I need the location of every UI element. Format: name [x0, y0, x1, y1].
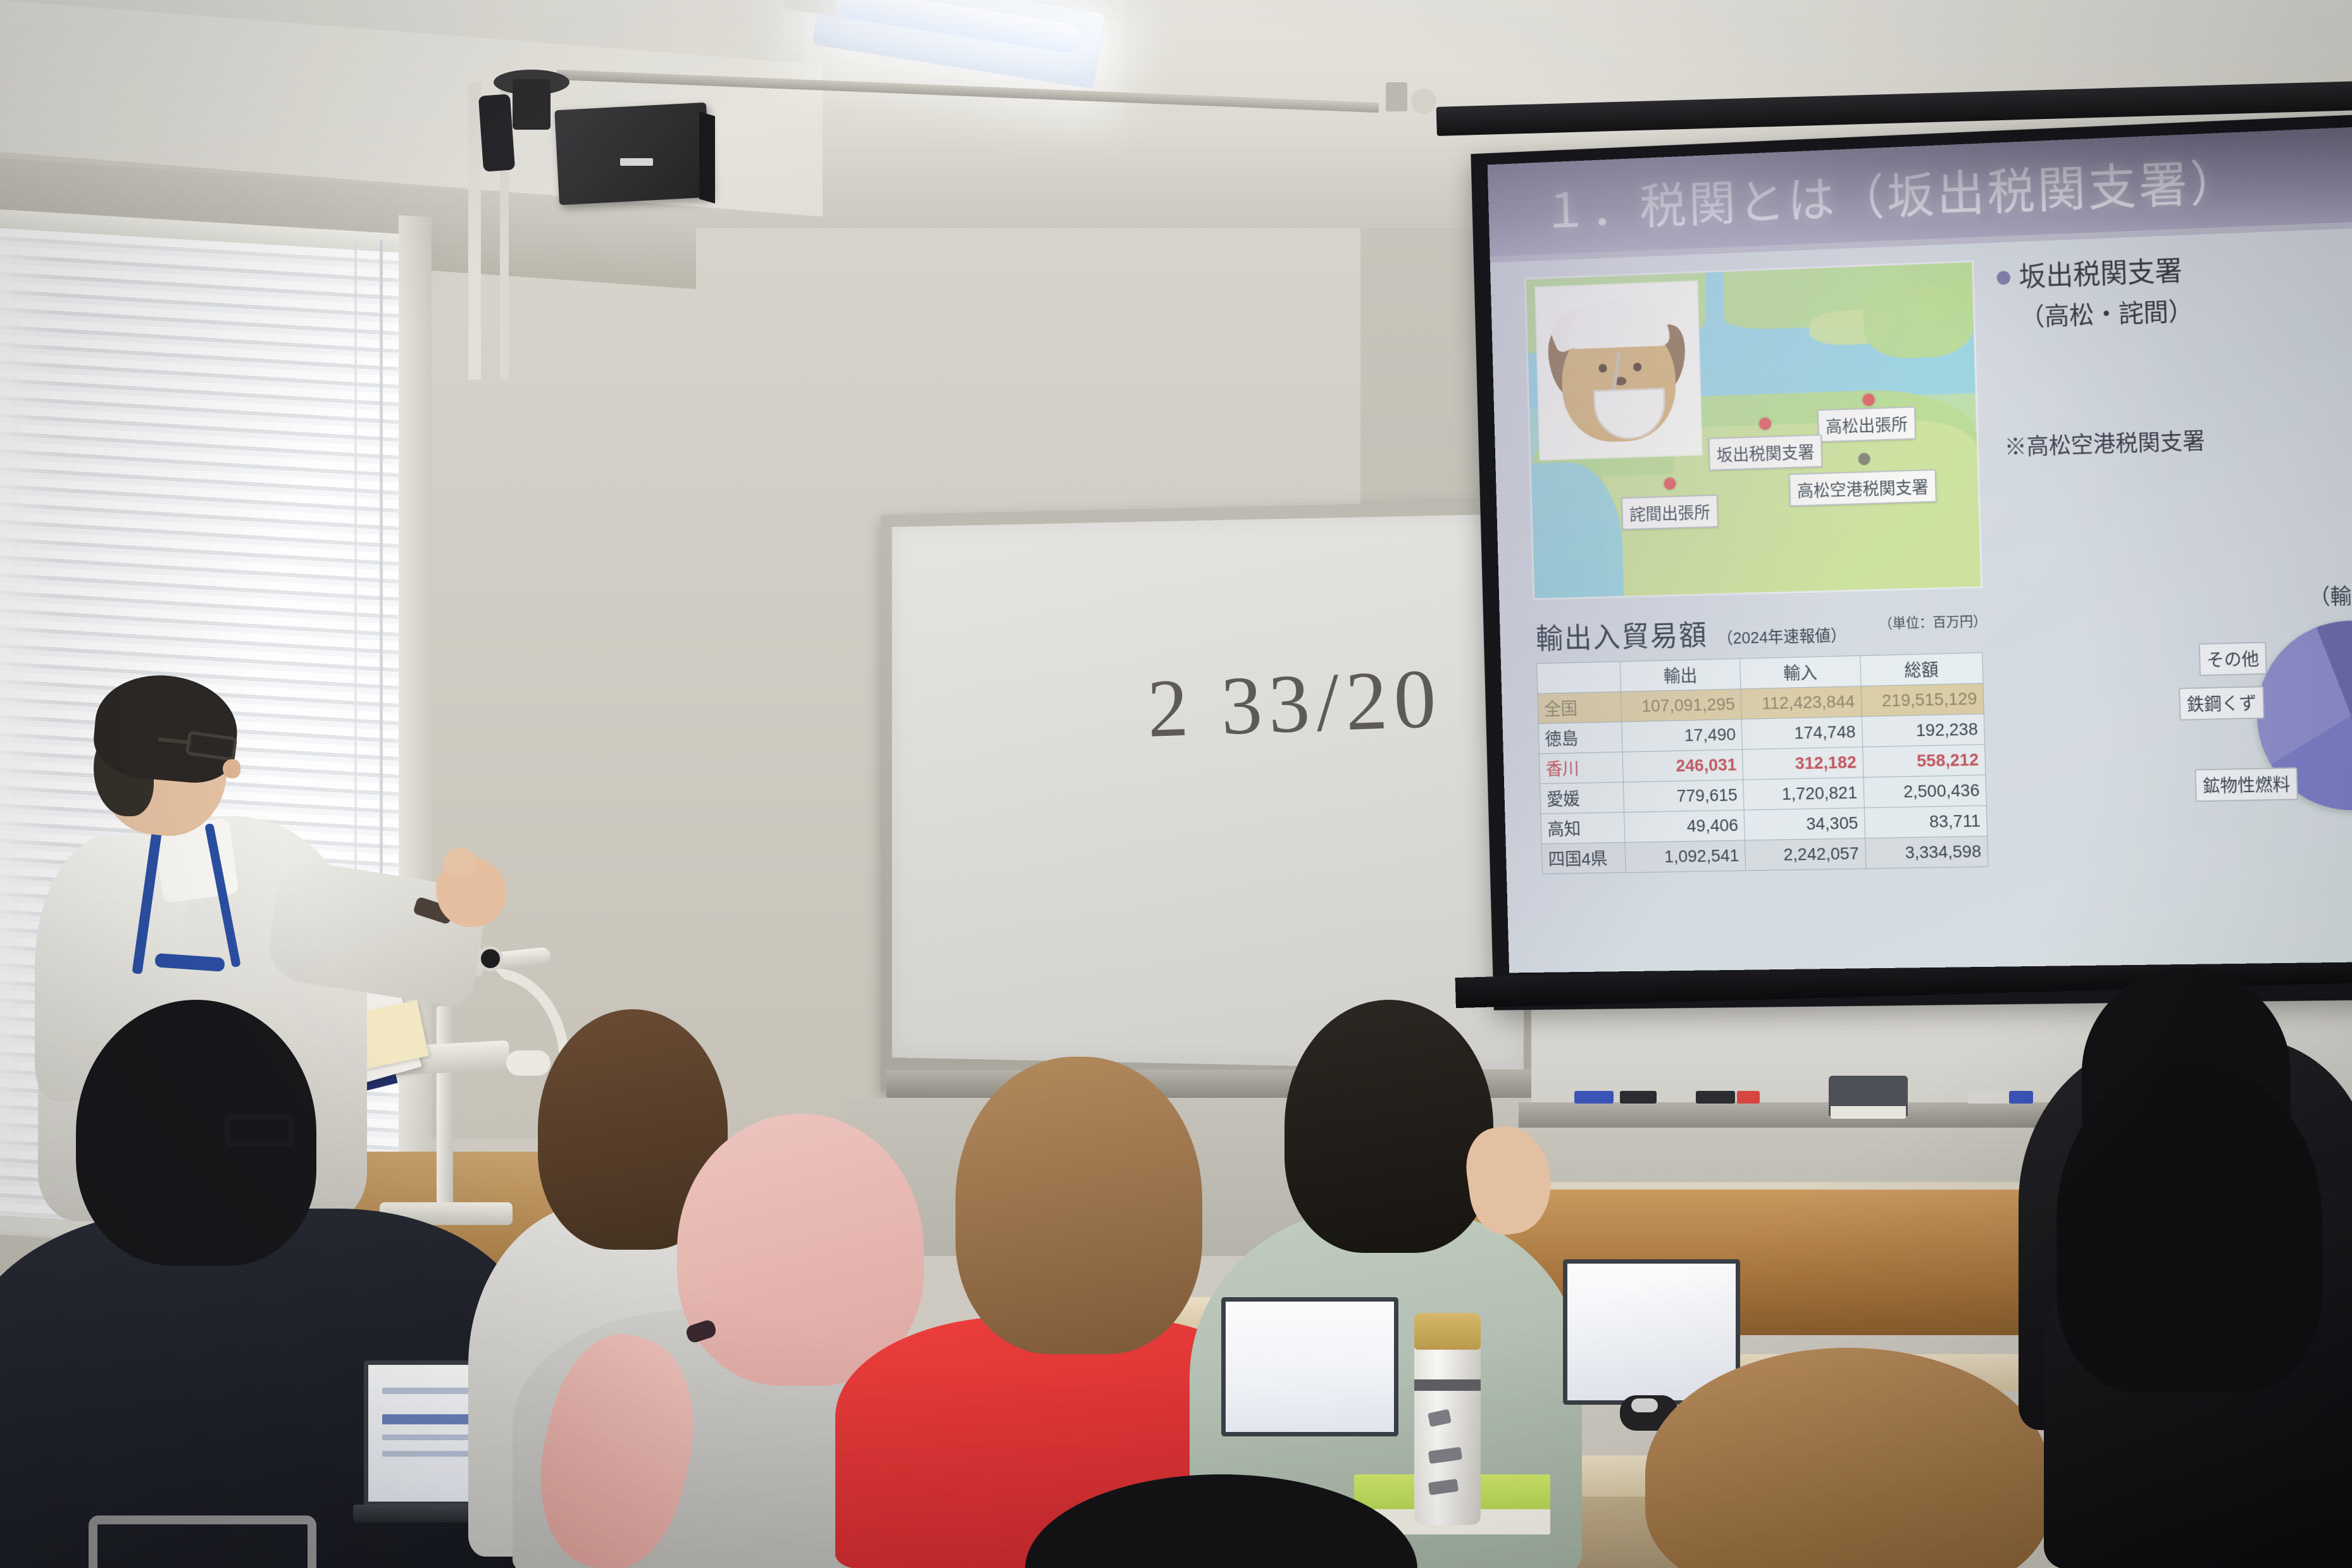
cell-export: 779,615 [1623, 780, 1744, 812]
cell-total: 192,238 [1862, 714, 1985, 747]
laptop-3-screen[interactable] [1221, 1297, 1398, 1436]
row-label: 四国4県 [1541, 842, 1626, 874]
ceiling-speaker-side [699, 111, 715, 203]
document-camera-knob[interactable] [506, 1050, 551, 1076]
slide-body: 高松出張所 坂出税関支署 詫間出張所 高松空港税関支署 坂出税関支署 （高松・詫… [1490, 228, 2352, 973]
map-label-sakaide: 坂出税関支署 [1708, 434, 1823, 471]
rail-bracket [1386, 82, 1407, 111]
cell-import: 112,423,844 [1741, 686, 1862, 719]
bullet-dot-icon [1996, 271, 2010, 285]
presenter-fingers [443, 848, 478, 876]
row-label: 香川 [1539, 752, 1623, 783]
col-header-export: 輸出 [1620, 659, 1741, 692]
cell-export: 1,092,541 [1625, 840, 1746, 873]
student-8-hair [2056, 1063, 2322, 1392]
student-3-hair [677, 1114, 924, 1386]
camera-lens-icon [478, 946, 503, 971]
student-1-glasses-icon [225, 1114, 294, 1147]
cell-import: 312,182 [1743, 747, 1864, 780]
cell-import: 1,720,821 [1743, 778, 1864, 811]
row-label: 高知 [1541, 812, 1625, 844]
col-header-import: 輸入 [1740, 656, 1861, 688]
row-label: 愛媛 [1540, 782, 1624, 814]
water-bottle[interactable] [1414, 1335, 1481, 1525]
speaker-brand-badge [620, 158, 653, 166]
trade-table-subtitle: （2024年速報値） [1717, 623, 1846, 649]
mascot-illustration [1536, 282, 1702, 459]
pie-label-mineral-fuel: 鉱物性燃料 [2194, 767, 2298, 802]
student-4-hair [955, 1057, 1202, 1354]
water-bottle-cap[interactable] [1414, 1313, 1481, 1350]
trade-table: 輸出 輸入 総額 全国 107,091,295 112,423,844 219,… [1536, 652, 1988, 874]
map-label-takuma: 詫間出張所 [1621, 495, 1719, 530]
cell-export: 246,031 [1622, 749, 1743, 782]
col-header-total: 総額 [1860, 653, 1983, 687]
row-label: 徳島 [1538, 722, 1622, 754]
projection-screen-surface: １．税関とは（坂出税関支署） [1488, 127, 2352, 973]
computer-mouse-button[interactable] [1631, 1398, 1658, 1412]
pie-label-other: その他 [2199, 642, 2267, 676]
pie-label-steel-scrap: 鉄鋼くず [2179, 686, 2265, 721]
pie-chart-heading: （輸出） [2308, 578, 2352, 611]
bullet-sublabel: （高松・詫間） [2020, 288, 2352, 334]
water-bottle-band [1414, 1379, 1481, 1391]
marker-black-icon-2[interactable] [1696, 1091, 1735, 1104]
map-of-kagawa-region: 高松出張所 坂出税関支署 詫間出張所 高松空港税関支署 [1526, 262, 1981, 598]
eraser-felt [1831, 1106, 1906, 1119]
whiteboard-handwriting: 2 33/20 [1146, 649, 1446, 792]
ceiling-speaker-icon [554, 103, 711, 205]
student-5-hair [1285, 1000, 1493, 1253]
cell-total: 219,515,129 [1861, 683, 1984, 717]
map-label-takamatsu-airport: 高松空港税関支署 [1789, 469, 1937, 506]
rail-knob [1411, 89, 1436, 114]
marker-black-icon[interactable] [1620, 1091, 1657, 1104]
col-header-blank [1537, 661, 1621, 694]
bullet-item: 坂出税関支署 [1996, 246, 2352, 296]
slide-footnote: ※高松空港税関支署 [2004, 423, 2205, 463]
mascot-chef-hat [1567, 299, 1670, 349]
speaker-mount-arm [513, 79, 551, 130]
cell-import: 34,305 [1744, 808, 1865, 840]
trade-table-title: 輸出入貿易額 [1535, 612, 1708, 657]
slide-bullet-list: 坂出税関支署 （高松・詫間） [1996, 246, 2352, 335]
export-pie-chart-block: （輸出） その他 鉄鋼くず 鉱物性燃料 [2185, 582, 2352, 864]
marker-blue-icon[interactable] [1574, 1091, 1614, 1104]
map-label-takamatsu: 高松出張所 [1817, 406, 1916, 442]
cell-total: 83,711 [1864, 806, 1988, 838]
whiteboard-surface[interactable] [892, 514, 1524, 1071]
conduit-pipe [468, 82, 481, 380]
trade-table-unit: （単位：百万円） [1879, 610, 1987, 633]
cell-export: 17,490 [1622, 719, 1743, 752]
cell-total: 3,334,598 [1865, 836, 1988, 868]
chair-backrest-1[interactable] [89, 1515, 316, 1568]
cell-export: 107,091,295 [1621, 689, 1741, 722]
classroom-lecture-photo: 2 33/20 １．税関とは（坂出税関支署） [0, 0, 2352, 1568]
presentation-slide: １．税関とは（坂出税関支署） [1488, 127, 2352, 973]
row-label: 全国 [1538, 692, 1622, 724]
cell-import: 2,242,057 [1745, 838, 1866, 871]
bullet-label: 坂出税関支署 [2019, 254, 2183, 296]
wall-sensor-icon [478, 94, 515, 171]
trade-table-block: 輸出入貿易額 （2024年速報値） （単位：百万円） 輸出 輸入 総額 [1535, 605, 2001, 874]
presenter-profile-nose [223, 759, 240, 778]
document-camera-pole [437, 1006, 453, 1215]
cell-total: 2,500,436 [1864, 775, 1987, 808]
marker-white-icon[interactable] [1968, 1091, 2010, 1104]
marker-red-icon[interactable] [1737, 1091, 1760, 1104]
cell-total: 558,212 [1862, 744, 1986, 777]
marker-blue-icon-2[interactable] [2009, 1091, 2033, 1104]
cell-export: 49,406 [1624, 810, 1745, 842]
cell-import: 174,748 [1742, 716, 1863, 749]
